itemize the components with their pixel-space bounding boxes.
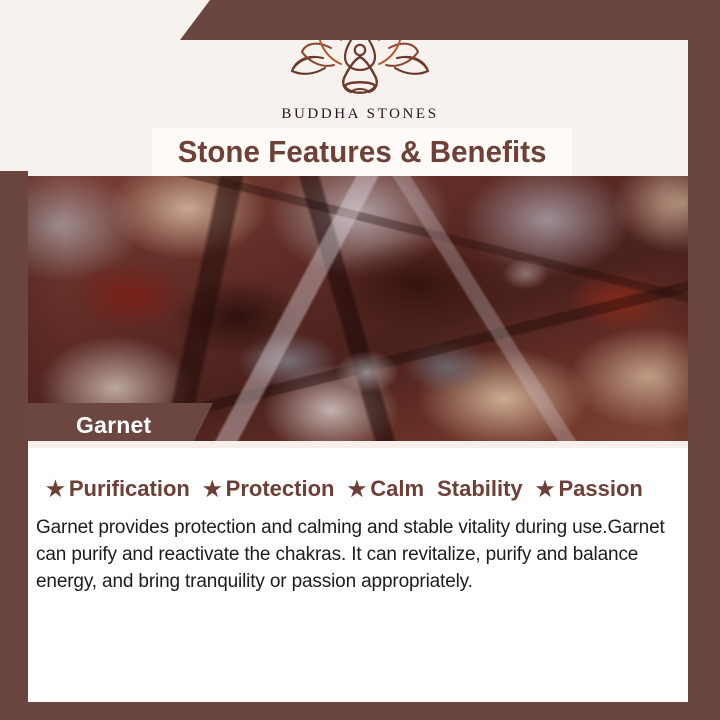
page-title-text: Stone Features & Benefits [178,134,547,170]
benefit-item-purification: ★Purification [46,476,190,502]
benefit-item-passion: ★Passion [536,476,643,502]
stone-description: Garnet provides protection and calming a… [36,514,676,595]
star-icon: ★ [347,478,366,501]
stone-features-card: BUDDHA STONES Stone Features & Benefits … [0,0,720,720]
benefit-item-protection: ★Protection [203,476,335,502]
star-icon: ★ [46,478,65,501]
benefit-item-calm: ★Calm [347,476,424,502]
benefits-list: ★Purification★Protection★CalmStability★P… [46,476,670,502]
frame-bottom-accent [0,702,720,720]
benefit-item-stability: Stability [437,476,523,502]
star-icon: ★ [203,478,222,501]
benefit-label: Stability [437,476,523,501]
star-icon: ★ [536,478,555,501]
frame-left-notch [0,400,28,448]
stone-info-panel: ★Purification★Protection★CalmStability★P… [28,448,688,702]
benefit-label: Purification [69,476,190,501]
stone-name-label: Garnet [76,412,151,439]
frame-right-accent [688,0,720,720]
page-title: Stone Features & Benefits [152,128,572,176]
benefit-label: Passion [559,476,643,501]
brand-name: BUDDHA STONES [281,106,438,123]
benefit-label: Protection [226,476,335,501]
benefit-label: Calm [370,476,424,501]
